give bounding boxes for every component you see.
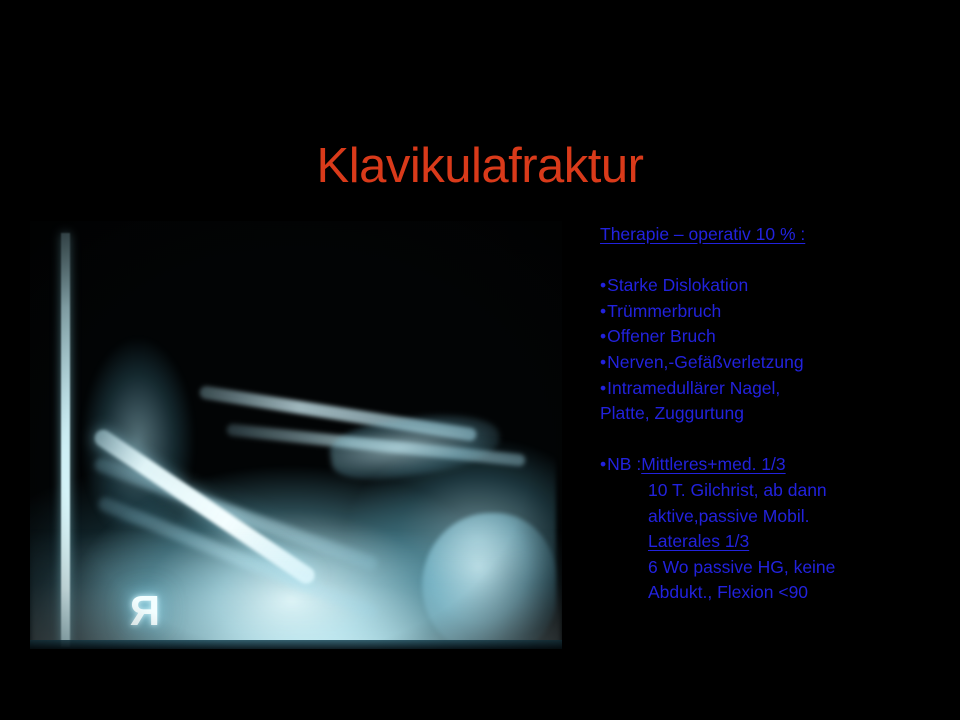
therapy-heading: Therapie – operativ 10 % : bbox=[600, 222, 805, 248]
nb-detail-line: 6 Wo passive HG, keine bbox=[600, 555, 900, 581]
spacer bbox=[600, 248, 900, 274]
list-item-continuation: Platte, Zuggurtung bbox=[600, 401, 900, 427]
nb-second-section-title: Laterales 1/3 bbox=[648, 531, 749, 551]
nb-label: NB : bbox=[607, 452, 641, 478]
content-text-block: Therapie – operativ 10 % : • Starke Disl… bbox=[600, 222, 900, 606]
xray-image[interactable]: R bbox=[30, 221, 562, 649]
bullet-icon: • bbox=[600, 324, 606, 350]
bullet-icon: • bbox=[600, 452, 606, 478]
list-item: • Intramedullärer Nagel, bbox=[600, 376, 900, 402]
nb-detail-line: 10 T. Gilchrist, ab dann bbox=[600, 478, 900, 504]
list-item: • Trümmerbruch bbox=[600, 299, 900, 325]
nb-detail-line: Abdukt., Flexion <90 bbox=[600, 580, 900, 606]
bullet-icon: • bbox=[600, 350, 606, 376]
nb-list-item: • NB : Mittleres+med. 1/3 bbox=[600, 452, 900, 478]
presentation-slide: Klavikulafraktur R Therapie – operativ 1… bbox=[0, 0, 960, 720]
nb-second-section-row: Laterales 1/3 bbox=[600, 529, 900, 555]
xray-vignette bbox=[30, 221, 562, 649]
list-item: • Nerven,-Gefäßverletzung bbox=[600, 350, 900, 376]
list-item-label: Trümmerbruch bbox=[607, 299, 721, 325]
list-item-label: Offener Bruch bbox=[607, 324, 716, 350]
bullet-icon: • bbox=[600, 273, 606, 299]
nb-detail-line: aktive,passive Mobil. bbox=[600, 504, 900, 530]
spacer bbox=[600, 427, 900, 453]
therapy-heading-row: Therapie – operativ 10 % : bbox=[600, 222, 900, 248]
list-item-label: Nerven,-Gefäßverletzung bbox=[607, 350, 803, 376]
list-item: • Starke Dislokation bbox=[600, 273, 900, 299]
list-item-label: Intramedullärer Nagel, bbox=[607, 376, 780, 402]
bullet-icon: • bbox=[600, 299, 606, 325]
list-item: • Offener Bruch bbox=[600, 324, 900, 350]
bullet-icon: • bbox=[600, 376, 606, 402]
page-title: Klavikulafraktur bbox=[0, 136, 960, 196]
list-item-label: Starke Dislokation bbox=[607, 273, 748, 299]
nb-section-title: Mittleres+med. 1/3 bbox=[641, 452, 785, 478]
